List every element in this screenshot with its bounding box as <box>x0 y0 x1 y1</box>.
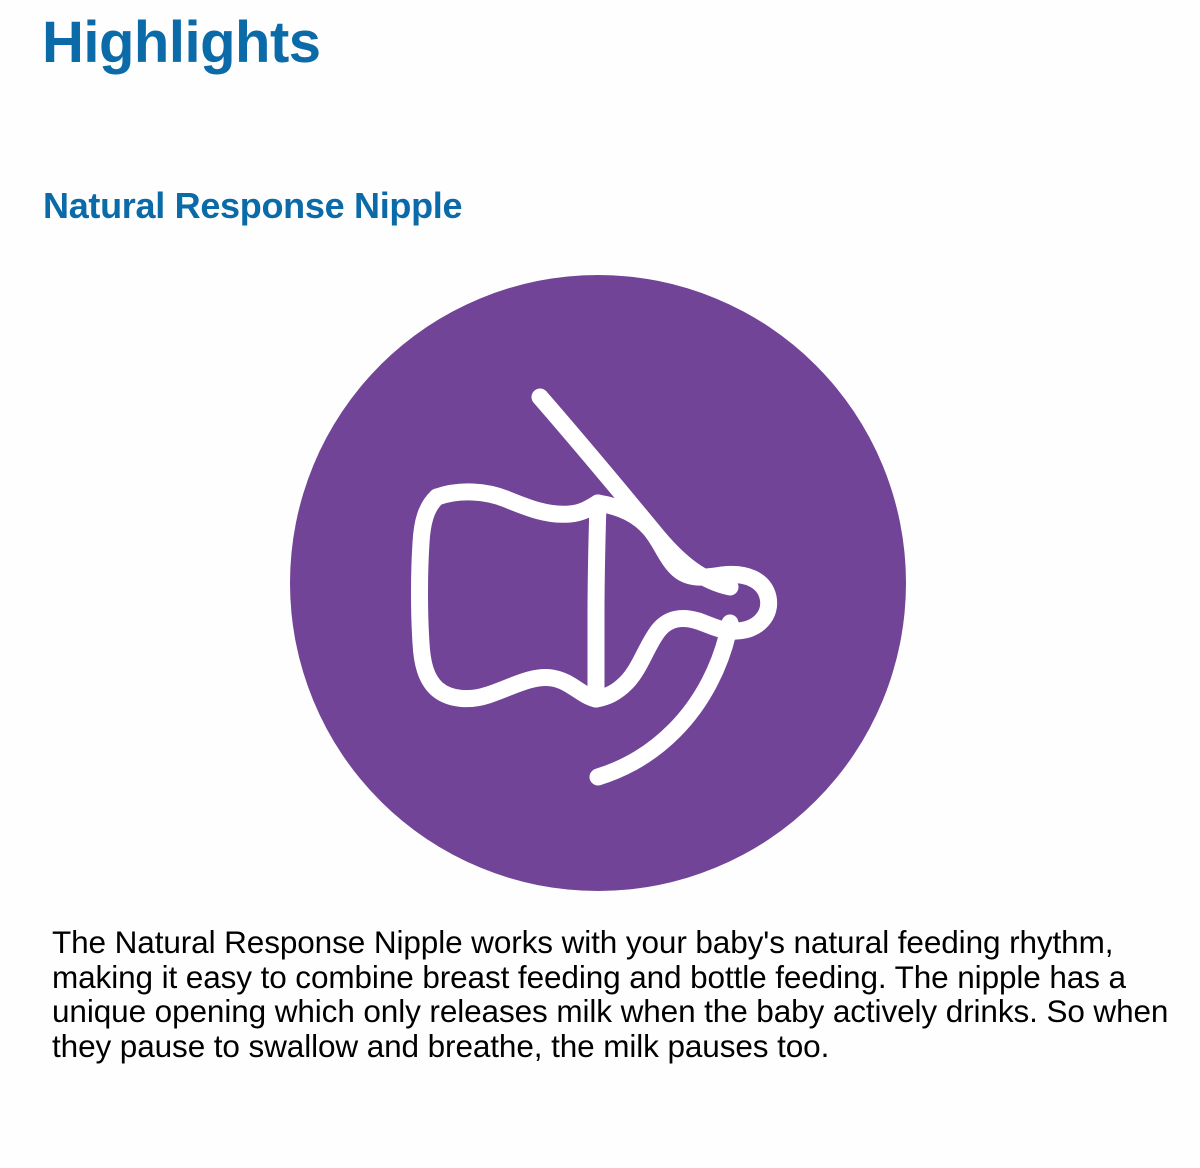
feature-description: The Natural Response Nipple works with y… <box>52 925 1172 1063</box>
baby-bottle-nipple-icon <box>290 275 906 891</box>
page-title: Highlights <box>42 8 321 78</box>
feature-title: Natural Response Nipple <box>43 184 462 228</box>
highlights-section: Highlights Natural Response Nipple <box>0 0 1200 1168</box>
bottle-collar-divider <box>596 503 598 699</box>
baby-bottle-nipple-icon-badge <box>290 275 906 891</box>
